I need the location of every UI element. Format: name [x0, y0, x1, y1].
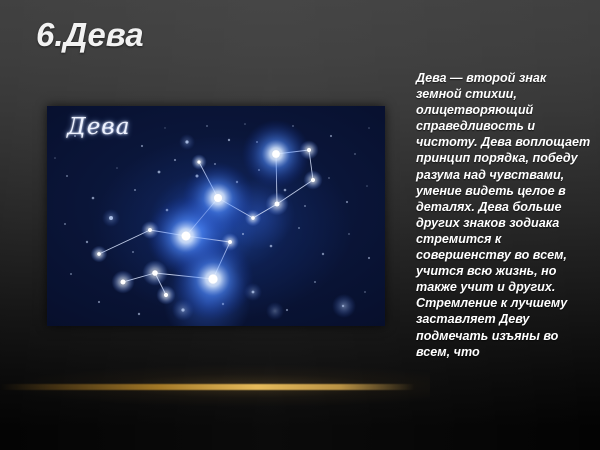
- presentation-slide: 6.Дева: [0, 0, 600, 450]
- star-core: [214, 194, 222, 202]
- star-core: [182, 232, 191, 241]
- body-paragraph: Дева — второй знак земной стихии, олицет…: [416, 70, 594, 360]
- star-core: [307, 148, 311, 152]
- star-core: [197, 160, 200, 163]
- picture-caption: Дева: [67, 114, 130, 140]
- star-core: [274, 201, 279, 206]
- star-core: [97, 252, 101, 256]
- constellation-image: Дева: [47, 106, 385, 326]
- star-core: [120, 279, 125, 284]
- star-core: [311, 178, 315, 182]
- star-core: [164, 293, 168, 297]
- horizon-glow-line: [0, 384, 415, 390]
- star-core: [272, 150, 280, 158]
- constellation-stars: [91, 120, 323, 320]
- star-core: [208, 274, 217, 283]
- star-core: [251, 216, 255, 220]
- star-core: [148, 228, 152, 232]
- page-title: 6.Дева: [36, 16, 144, 54]
- horizon-haze: [0, 362, 430, 408]
- star-core: [152, 270, 158, 276]
